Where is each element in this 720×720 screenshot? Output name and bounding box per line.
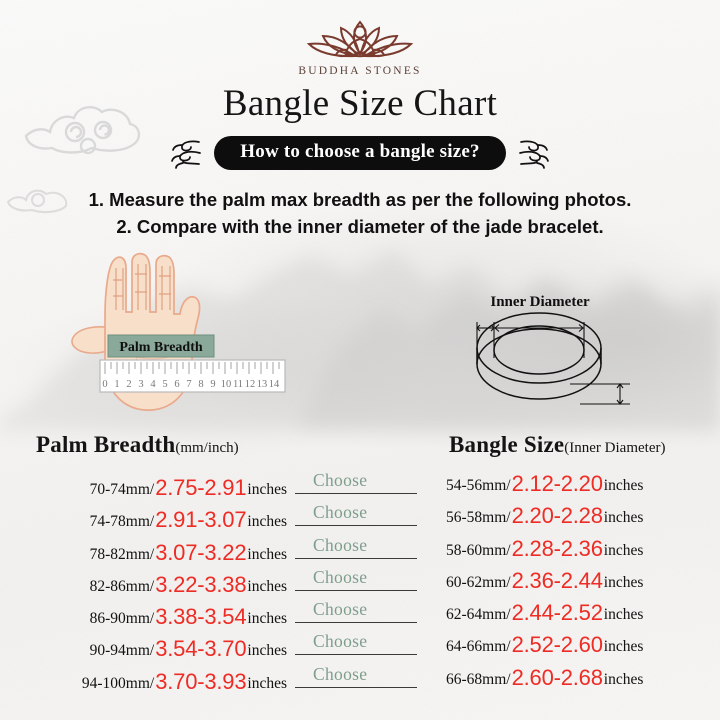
brand-logo: BUDDHA STONES (0, 8, 720, 77)
svg-text:10: 10 (221, 379, 232, 390)
choose-label: Choose (313, 664, 367, 685)
palm-breadth-table: 70-74mm/2.75-2.91inches Choose 74-78mm/2… (24, 470, 444, 696)
unit-label: inches (247, 642, 287, 660)
unit-label: inches (247, 546, 287, 564)
svg-text:4: 4 (150, 379, 156, 390)
table-row: 54-56mm/2.12-2.20inches (446, 470, 718, 502)
choose-field[interactable]: Choose (295, 535, 417, 559)
inch-range: 2.52-2.60 (511, 632, 604, 658)
bangle-section-header: Bangle Size(Inner Diameter) (449, 432, 665, 458)
unit-label: inches (247, 513, 287, 531)
inch-range: 3.70-3.93 (154, 669, 247, 695)
svg-text:5: 5 (162, 379, 167, 390)
choose-label: Choose (313, 502, 367, 523)
unit-label: inches (604, 509, 644, 527)
inner-diameter-label: Inner Diameter (490, 294, 590, 310)
unit-label: inches (604, 638, 644, 656)
inch-range: 3.38-3.54 (154, 604, 247, 630)
mm-range: 70-74mm/ (90, 481, 155, 499)
size-chart-page: BUDDHA STONES Bangle Size Chart How to c… (0, 0, 720, 720)
bangle-size-table: 54-56mm/2.12-2.20inches 56-58mm/2.20-2.2… (446, 470, 718, 696)
mm-range: 74-78mm/ (90, 513, 155, 531)
table-row: 70-74mm/2.75-2.91inches Choose (24, 470, 444, 502)
choose-label: Choose (313, 599, 367, 620)
table-row: 86-90mm/3.38-3.54inches Choose (24, 599, 444, 631)
mm-range: 82-86mm/ (90, 578, 155, 596)
choose-field[interactable]: Choose (295, 502, 417, 526)
palm-measure-cell: 86-90mm/3.38-3.54inches (24, 603, 287, 629)
palm-measure-cell: 70-74mm/2.75-2.91inches (24, 474, 287, 500)
bangle-ring-diagram: Inner Diameter (462, 292, 642, 417)
flourish-swirl-icon (515, 137, 551, 169)
mm-range: 66-68mm/ (446, 671, 511, 689)
flourish-swirl-icon (169, 137, 205, 169)
table-row: 90-94mm/3.54-3.70inches Choose (24, 631, 444, 663)
inch-range: 2.44-2.52 (511, 600, 604, 626)
palm-section-title-suffix: (mm/inch) (175, 440, 238, 456)
bangle-section-title-suffix: (Inner Diameter) (564, 440, 665, 456)
choose-field[interactable]: Choose (295, 567, 417, 591)
mm-range: 78-82mm/ (90, 546, 155, 564)
hand-palm-illustration: Palm Breadth 012 345 678 91011 121314 (60, 252, 290, 417)
brand-name: BUDDHA STONES (0, 65, 720, 77)
choose-field[interactable]: Choose (295, 470, 417, 494)
svg-text:0: 0 (102, 379, 107, 390)
subtitle-row: How to choose a bangle size? (0, 136, 720, 170)
svg-text:11: 11 (233, 379, 243, 390)
lotus-meditation-icon (301, 8, 419, 64)
mm-range: 90-94mm/ (90, 642, 155, 660)
table-row: 64-66mm/2.52-2.60inches (446, 631, 718, 663)
palm-section-title: Palm Breadth (36, 432, 175, 457)
instruction-line-2: 2. Compare with the inner diameter of th… (0, 213, 720, 240)
svg-text:12: 12 (245, 379, 256, 390)
palm-measure-cell: 90-94mm/3.54-3.70inches (24, 635, 287, 661)
svg-text:13: 13 (257, 379, 268, 390)
inch-range: 2.12-2.20 (511, 471, 604, 497)
inch-range: 2.75-2.91 (154, 475, 247, 501)
svg-text:7: 7 (186, 379, 191, 390)
mm-range: 58-60mm/ (446, 542, 511, 560)
table-row: 60-62mm/2.36-2.44inches (446, 567, 718, 599)
mm-range: 60-62mm/ (446, 574, 511, 592)
choose-label: Choose (313, 535, 367, 556)
table-row: 94-100mm/3.70-3.93inches Choose (24, 664, 444, 696)
ruler-tick-labels: 012 345 678 91011 121314 (102, 379, 280, 390)
mm-range: 62-64mm/ (446, 606, 511, 624)
unit-label: inches (247, 610, 287, 628)
choose-label: Choose (313, 567, 367, 588)
mm-range: 86-90mm/ (90, 610, 155, 628)
table-row: 56-58mm/2.20-2.28inches (446, 502, 718, 534)
unit-label: inches (604, 574, 644, 592)
palm-section-header: Palm Breadth(mm/inch) (36, 432, 239, 458)
instruction-line-1: 1. Measure the palm max breadth as per t… (0, 186, 720, 213)
unit-label: inches (604, 542, 644, 560)
inch-range: 2.91-3.07 (154, 507, 247, 533)
table-row: 78-82mm/3.07-3.22inches Choose (24, 535, 444, 567)
inch-range: 2.20-2.28 (511, 503, 604, 529)
unit-label: inches (247, 578, 287, 596)
subtitle-badge: How to choose a bangle size? (214, 136, 505, 170)
unit-label: inches (247, 675, 287, 693)
table-row: 58-60mm/2.28-2.36inches (446, 535, 718, 567)
palm-measure-cell: 78-82mm/3.07-3.22inches (24, 539, 287, 565)
palm-measure-cell: 94-100mm/3.70-3.93inches (24, 668, 287, 694)
palm-breadth-badge-label: Palm Breadth (119, 340, 203, 355)
mm-range: 64-66mm/ (446, 638, 511, 656)
svg-text:9: 9 (210, 379, 215, 390)
choose-field[interactable]: Choose (295, 599, 417, 623)
inch-range: 3.22-3.38 (154, 572, 247, 598)
svg-text:14: 14 (269, 379, 280, 390)
palm-measure-cell: 82-86mm/3.22-3.38inches (24, 571, 287, 597)
inch-range: 2.60-2.68 (511, 665, 604, 691)
table-row: 82-86mm/3.22-3.38inches Choose (24, 567, 444, 599)
svg-text:6: 6 (174, 379, 179, 390)
bangle-section-title: Bangle Size (449, 432, 564, 457)
choose-field[interactable]: Choose (295, 664, 417, 688)
choose-label: Choose (313, 470, 367, 491)
unit-label: inches (604, 477, 644, 495)
table-row: 62-64mm/2.44-2.52inches (446, 599, 718, 631)
mm-range: 56-58mm/ (446, 509, 511, 527)
inch-range: 2.28-2.36 (511, 536, 604, 562)
table-row: 66-68mm/2.60-2.68inches (446, 664, 718, 696)
mm-range: 54-56mm/ (446, 477, 511, 495)
inch-range: 2.36-2.44 (511, 568, 604, 594)
inch-range: 3.54-3.70 (154, 636, 247, 662)
svg-text:3: 3 (138, 379, 143, 390)
choose-label: Choose (313, 631, 367, 652)
table-row: 74-78mm/2.91-3.07inches Choose (24, 502, 444, 534)
choose-field[interactable]: Choose (295, 631, 417, 655)
unit-label: inches (604, 606, 644, 624)
svg-text:1: 1 (114, 379, 119, 390)
mm-range: 94-100mm/ (82, 675, 154, 693)
page-title: Bangle Size Chart (0, 82, 720, 125)
palm-measure-cell: 74-78mm/2.91-3.07inches (24, 506, 287, 532)
instructions-block: 1. Measure the palm max breadth as per t… (0, 186, 720, 240)
unit-label: inches (247, 481, 287, 499)
unit-label: inches (604, 671, 644, 689)
svg-text:8: 8 (198, 379, 203, 390)
svg-text:2: 2 (126, 379, 131, 390)
inch-range: 3.07-3.22 (154, 540, 247, 566)
